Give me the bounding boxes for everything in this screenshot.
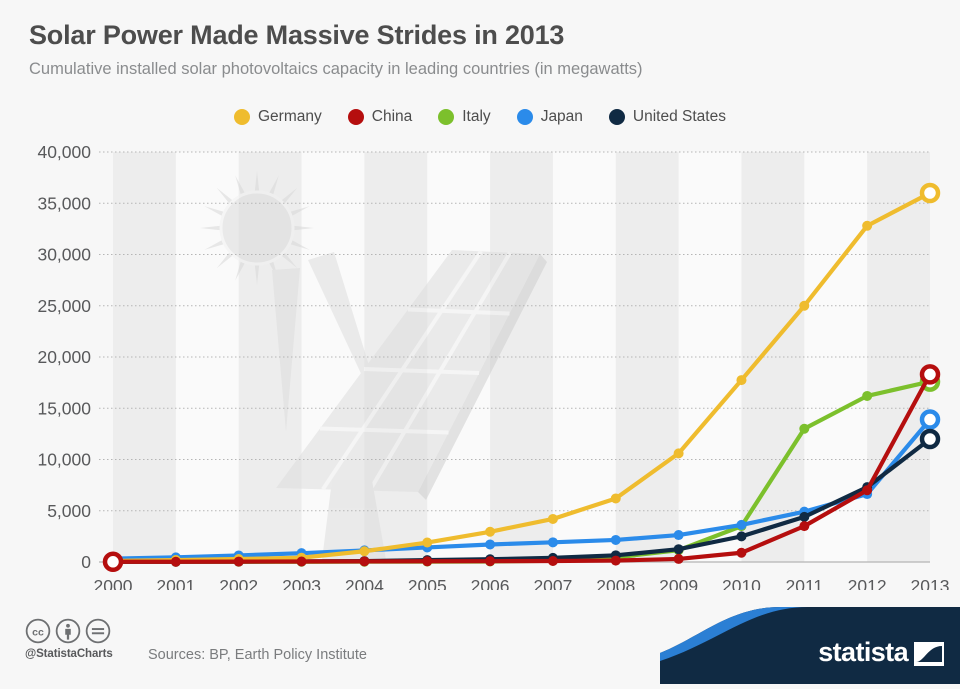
data-point-germany-2005[interactable]: [422, 538, 432, 548]
data-point-italy-2011[interactable]: [799, 424, 809, 434]
plot-band: [867, 152, 930, 562]
data-point-china-2009[interactable]: [674, 554, 684, 564]
chart-title: Solar Power Made Massive Strides in 2013: [29, 18, 939, 52]
line-chart: 05,00010,00015,00020,00025,00030,00035,0…: [0, 140, 960, 590]
x-axis-tick-label: 2013: [911, 576, 950, 590]
x-axis-tick-label: 2007: [533, 576, 572, 590]
legend-label: Germany: [258, 108, 322, 126]
data-point-united-states-2010[interactable]: [736, 531, 746, 541]
y-axis-tick-label: 0: [81, 552, 91, 572]
data-point-china-2003[interactable]: [297, 556, 307, 566]
chart-sources: Sources: BP, Earth Policy Institute: [148, 647, 367, 663]
no-derivatives-icon: [85, 618, 111, 644]
data-point-germany-2010[interactable]: [736, 375, 746, 385]
x-axis-tick-label: 2006: [471, 576, 510, 590]
x-axis-tick-label: 2004: [345, 576, 384, 590]
data-point-china-2007[interactable]: [548, 556, 558, 566]
svg-text:cc: cc: [32, 626, 44, 638]
statista-logo-icon: [914, 642, 944, 666]
data-point-germany-2008[interactable]: [611, 493, 621, 503]
data-point-open-united-states-2013[interactable]: [922, 431, 938, 447]
x-axis-tick-label: 2005: [408, 576, 447, 590]
x-axis-tick-label: 2010: [722, 576, 761, 590]
data-point-japan-2006[interactable]: [485, 539, 495, 549]
legend-label: Japan: [541, 108, 583, 126]
legend-item-japan[interactable]: Japan: [517, 108, 583, 126]
legend-item-united-states[interactable]: United States: [609, 108, 726, 126]
x-axis-tick-label: 2003: [282, 576, 321, 590]
legend-item-germany[interactable]: Germany: [234, 108, 322, 126]
chart-legend: GermanyChinaItalyJapanUnited States: [0, 108, 960, 126]
data-point-japan-2007[interactable]: [548, 537, 558, 547]
attribution-icon: [55, 618, 81, 644]
x-axis-tick-label: 2008: [596, 576, 635, 590]
x-axis-tick-label: 2002: [219, 576, 258, 590]
data-point-china-2004[interactable]: [359, 556, 369, 566]
data-point-china-2006[interactable]: [485, 556, 495, 566]
data-point-china-2002[interactable]: [234, 557, 244, 567]
x-axis-tick-label: 2009: [659, 576, 698, 590]
legend-item-china[interactable]: China: [348, 108, 413, 126]
data-point-china-2010[interactable]: [736, 548, 746, 558]
y-axis-tick-label: 20,000: [37, 347, 91, 367]
data-point-united-states-2009[interactable]: [674, 544, 684, 554]
data-point-germany-2011[interactable]: [799, 301, 809, 311]
y-axis-tick-label: 35,000: [37, 193, 91, 213]
data-point-germany-2006[interactable]: [485, 527, 495, 537]
legend-dot-united-states: [609, 109, 625, 125]
data-point-japan-2009[interactable]: [674, 530, 684, 540]
plot-band: [741, 152, 804, 562]
legend-label: Italy: [462, 108, 490, 126]
chart-header: Solar Power Made Massive Strides in 2013…: [29, 18, 939, 80]
y-axis-tick-label: 25,000: [37, 296, 91, 316]
data-point-open-china-2013[interactable]: [922, 366, 938, 382]
sun-watermark: [200, 171, 314, 285]
legend-dot-germany: [234, 109, 250, 125]
data-point-germany-2009[interactable]: [674, 448, 684, 458]
x-axis-tick-label: 2001: [156, 576, 195, 590]
legend-item-italy[interactable]: Italy: [438, 108, 490, 126]
plot-area: 05,00010,00015,00020,00025,00030,00035,0…: [0, 140, 960, 590]
x-axis-tick-label: 2012: [848, 576, 887, 590]
legend-label: United States: [633, 108, 726, 126]
creative-commons-icon: cc: [25, 618, 51, 644]
data-point-china-2008[interactable]: [611, 556, 621, 566]
creative-commons-icons: cc: [25, 618, 111, 644]
statista-wordmark: statista: [818, 637, 908, 668]
legend-dot-italy: [438, 109, 454, 125]
data-point-china-2001[interactable]: [171, 557, 181, 567]
data-point-germany-2012[interactable]: [862, 221, 872, 231]
chart-subtitle: Cumulative installed solar photovoltaics…: [29, 58, 939, 80]
statista-branding: statista: [660, 607, 960, 684]
y-axis-tick-label: 5,000: [47, 501, 91, 521]
chart-footer: cc @StatistaCharts Sources: BP, Earth Po…: [0, 600, 960, 684]
data-point-open-china-2000[interactable]: [105, 554, 121, 570]
data-point-germany-2004[interactable]: [359, 546, 369, 556]
data-point-italy-2012[interactable]: [862, 391, 872, 401]
data-point-japan-2008[interactable]: [611, 535, 621, 545]
x-axis-tick-label: 2000: [94, 576, 133, 590]
data-point-united-states-2011[interactable]: [799, 512, 809, 522]
legend-dot-japan: [517, 109, 533, 125]
data-point-china-2012[interactable]: [862, 485, 872, 495]
data-point-open-germany-2013[interactable]: [922, 185, 938, 201]
y-axis-tick-label: 40,000: [37, 142, 91, 162]
data-point-china-2005[interactable]: [422, 556, 432, 566]
legend-label: China: [372, 108, 413, 126]
data-point-japan-2010[interactable]: [736, 520, 746, 530]
y-axis-tick-label: 10,000: [37, 450, 91, 470]
infographic-root: Solar Power Made Massive Strides in 2013…: [0, 0, 960, 684]
statista-handle: @StatistaCharts: [25, 648, 113, 660]
y-axis-tick-label: 15,000: [37, 398, 91, 418]
legend-dot-china: [348, 109, 364, 125]
data-point-germany-2007[interactable]: [548, 514, 558, 524]
x-axis-tick-label: 2011: [785, 576, 823, 590]
y-axis-tick-label: 30,000: [37, 245, 91, 265]
data-point-china-2011[interactable]: [799, 521, 809, 531]
data-point-open-japan-2013[interactable]: [922, 412, 938, 428]
